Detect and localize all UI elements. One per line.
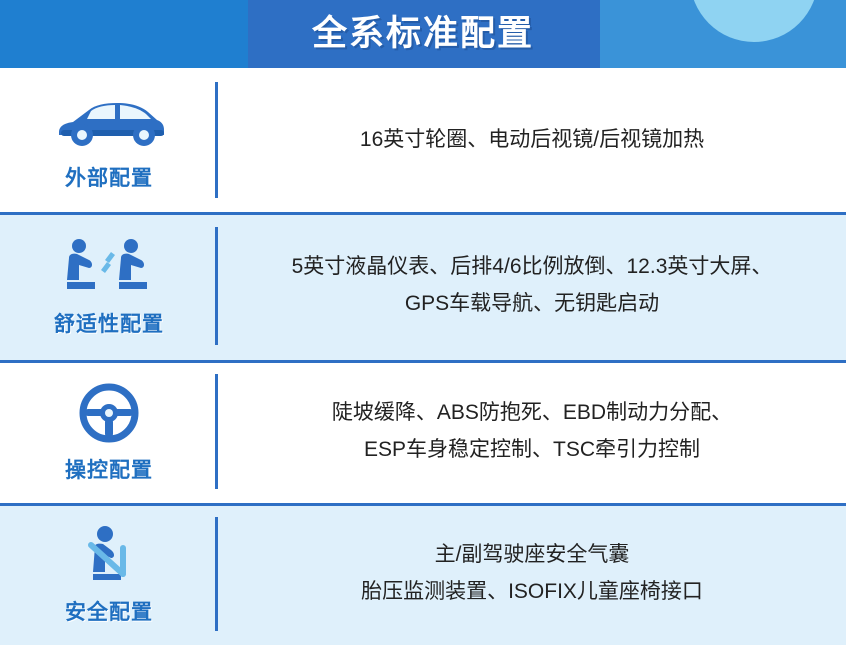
seatbelt-person-icon xyxy=(49,522,169,588)
description-line: 胎压监测装置、ISOFIX儿童座椅接口 xyxy=(361,574,703,611)
category-cell: 操控配置 xyxy=(0,360,218,503)
column-divider xyxy=(215,517,218,631)
description-line: 主/副驾驶座安全气囊 xyxy=(435,537,630,574)
config-table: 外部配置 16英寸轮圈、电动后视镜/后视镜加热 xyxy=(0,68,846,645)
column-divider xyxy=(215,82,218,197)
category-cell: 外部配置 xyxy=(0,68,218,212)
column-divider xyxy=(215,374,218,488)
table-row: 外部配置 16英寸轮圈、电动后视镜/后视镜加热 xyxy=(0,68,846,212)
table-row: 舒适性配置 5英寸液晶仪表、后排4/6比例放倒、12.3英寸大屏、 GPS车载导… xyxy=(0,212,846,360)
seats-icon xyxy=(49,234,169,300)
description-line: 陡坡缓降、ABS防抱死、EBD制动力分配、 xyxy=(332,395,732,432)
table-row: 安全配置 主/副驾驶座安全气囊 胎压监测装置、ISOFIX儿童座椅接口 xyxy=(0,503,846,645)
page-title: 全系标准配置 xyxy=(0,0,846,68)
description-line: 5英寸液晶仪表、后排4/6比例放倒、12.3英寸大屏、 xyxy=(292,249,773,286)
table-row: 操控配置 陡坡缓降、ABS防抱死、EBD制动力分配、 ESP车身稳定控制、TSC… xyxy=(0,360,846,503)
description-cell: 5英寸液晶仪表、后排4/6比例放倒、12.3英寸大屏、 GPS车载导航、无钥匙启… xyxy=(218,212,846,360)
infographic-page: 全系标准配置 外部配置 xyxy=(0,0,846,645)
description-cell: 16英寸轮圈、电动后视镜/后视镜加热 xyxy=(218,68,846,212)
steering-wheel-icon xyxy=(49,380,169,446)
description-line: ESP车身稳定控制、TSC牵引力控制 xyxy=(364,432,700,469)
category-label: 舒适性配置 xyxy=(54,308,164,338)
description-line: 16英寸轮圈、电动后视镜/后视镜加热 xyxy=(360,122,704,159)
category-cell: 舒适性配置 xyxy=(0,212,218,360)
description-cell: 主/副驾驶座安全气囊 胎压监测装置、ISOFIX儿童座椅接口 xyxy=(218,503,846,645)
category-label: 外部配置 xyxy=(65,162,153,192)
car-side-icon xyxy=(49,88,169,154)
category-label: 安全配置 xyxy=(65,596,153,626)
category-label: 操控配置 xyxy=(65,454,153,484)
description-line: GPS车载导航、无钥匙启动 xyxy=(405,286,659,323)
category-cell: 安全配置 xyxy=(0,503,218,645)
column-divider xyxy=(215,227,218,345)
header-banner: 全系标准配置 xyxy=(0,0,846,68)
description-cell: 陡坡缓降、ABS防抱死、EBD制动力分配、 ESP车身稳定控制、TSC牵引力控制 xyxy=(218,360,846,503)
